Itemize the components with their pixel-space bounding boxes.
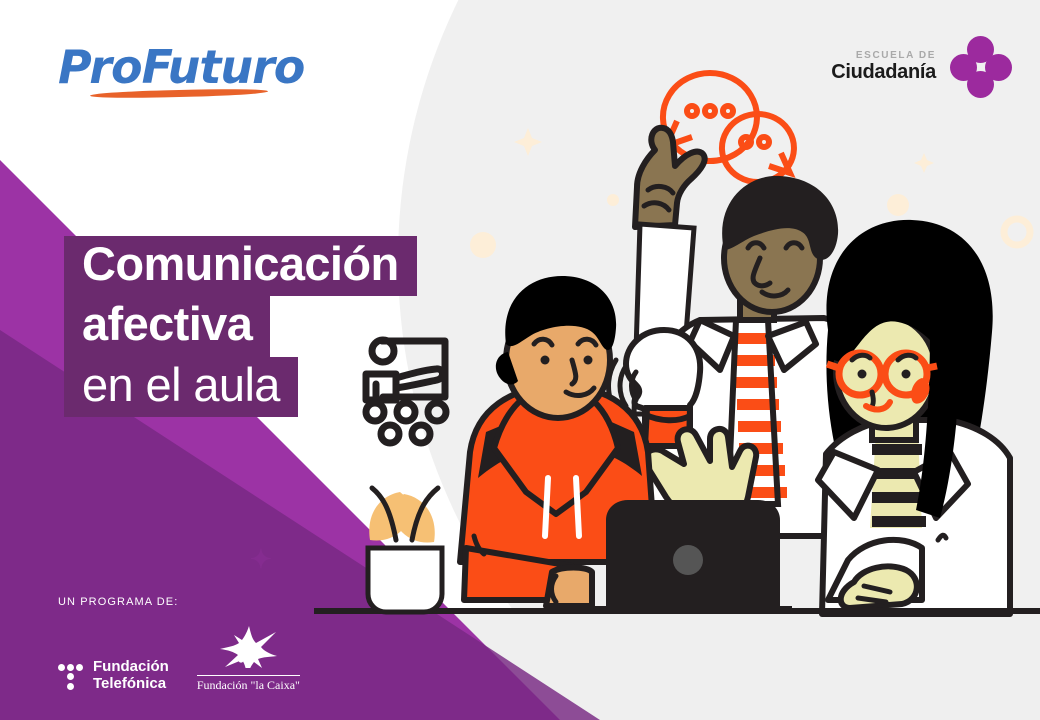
telefonica-name: Fundación Telefónica: [93, 659, 169, 693]
course-cover: ✦ ProFuturo ESCUELA DE Ciudadanía Comuni…: [0, 0, 1040, 720]
lacaixa-name: Fundación "la Caixa": [197, 675, 300, 693]
person-orange-glasses: [818, 220, 1010, 614]
title-line-3: en el aula: [64, 357, 298, 417]
lacaixa-star-icon: [218, 624, 278, 668]
potted-plant: [368, 488, 442, 612]
sparkle-purple-icon: ✦: [250, 546, 272, 572]
laptop: [590, 500, 792, 612]
title-line-1: Comunicación: [64, 236, 417, 296]
title-line-2: afectiva: [64, 296, 270, 356]
sponsor-logos: Fundación Telefónica Fundación "la Caixa…: [58, 624, 300, 693]
fundacion-telefonica-logo[interactable]: Fundación Telefónica: [58, 659, 169, 693]
sponsor-label: UN PROGRAMA DE:: [58, 596, 300, 608]
telefonica-name-line1: Fundación: [93, 659, 169, 676]
sponsor-footer: UN PROGRAMA DE: Fundación Telefónica: [58, 596, 300, 693]
page-title: Comunicación afectiva en el aula: [64, 236, 417, 417]
telefonica-name-line2: Telefónica: [93, 676, 169, 693]
telefonica-dots-icon: [58, 661, 84, 691]
fundacion-lacaixa-logo[interactable]: Fundación "la Caixa": [197, 624, 300, 693]
